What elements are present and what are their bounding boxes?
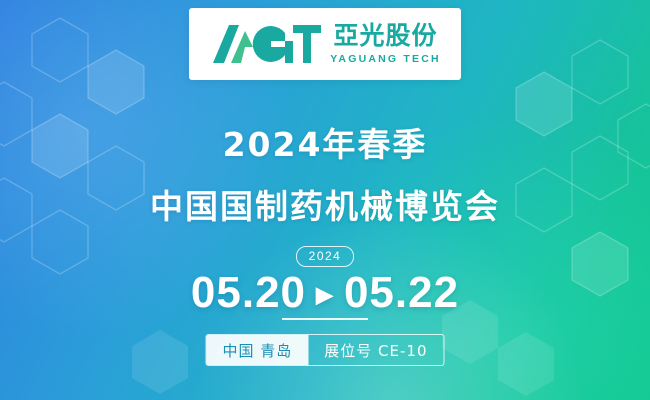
- footer-location: 中国 青岛: [206, 335, 308, 365]
- company-logo-card: 亞光股份 YAGUANG TECH: [189, 8, 461, 80]
- agt-logo-icon: [209, 21, 321, 67]
- year-badge-row: 2024: [0, 246, 650, 267]
- logo-text-block: 亞光股份 YAGUANG TECH: [330, 23, 441, 65]
- date-start: 05.20: [191, 268, 306, 318]
- date-range: 05.20 ▶ 05.22: [0, 268, 650, 318]
- headline-block: 2024年春季 中国国制药机械博览会: [0, 118, 650, 228]
- date-end: 05.22: [344, 268, 459, 318]
- headline-line-1: 2024年春季: [0, 118, 650, 166]
- logo-chinese-name: 亞光股份: [333, 23, 437, 48]
- year-badge: 2024: [296, 246, 355, 267]
- footer-booth: 展位号 CE-10: [308, 335, 443, 365]
- date-underline-divider: [282, 318, 368, 320]
- footer-info-bar: 中国 青岛 展位号 CE-10: [205, 334, 444, 366]
- arrow-right-icon: ▶: [316, 284, 334, 306]
- headline-line-2: 中国国制药机械博览会: [0, 180, 650, 228]
- logo-english-name: YAGUANG TECH: [330, 54, 441, 65]
- exhibition-banner: 亞光股份 YAGUANG TECH 2024年春季 中国国制药机械博览会 202…: [0, 0, 650, 400]
